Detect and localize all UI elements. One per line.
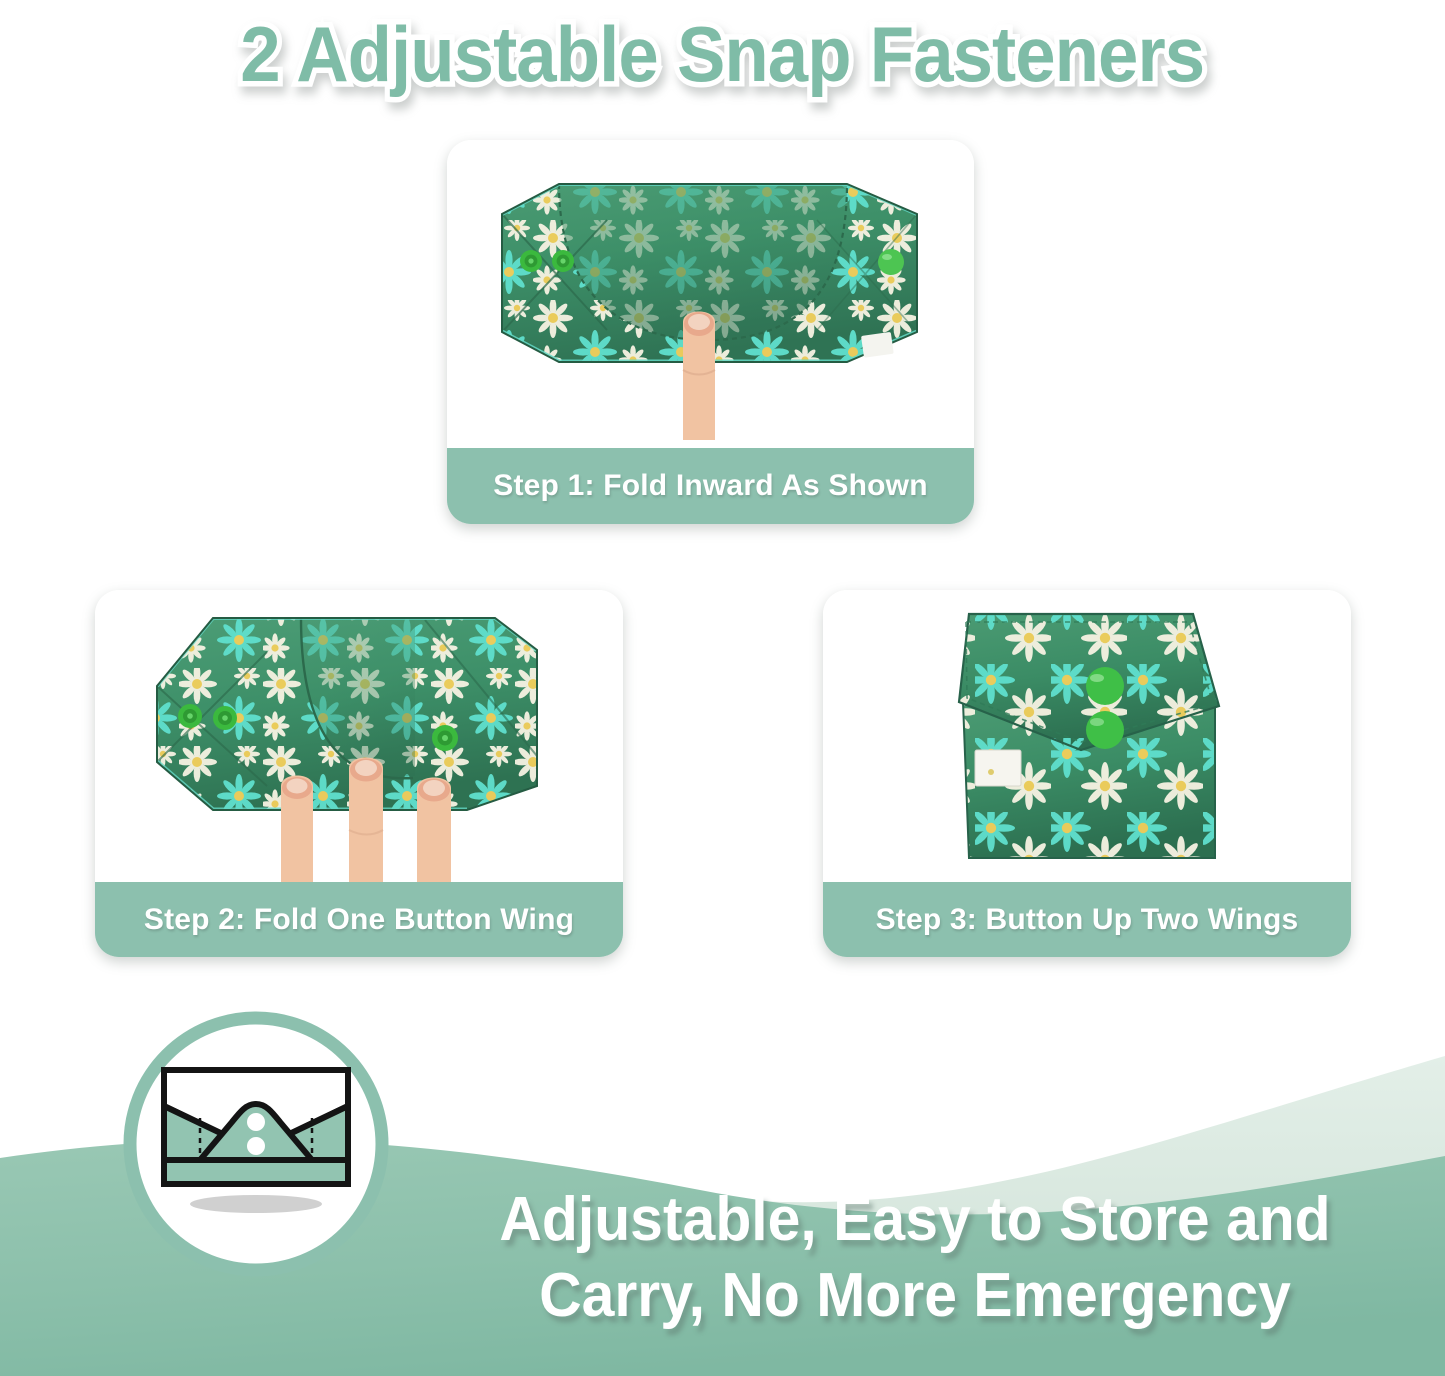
snap-button-right [432, 725, 458, 751]
folded-pouch-icon [120, 1008, 392, 1280]
footer-line-1: Adjustable, Easy to Store and [478, 1182, 1352, 1258]
page-title: 2 Adjustable Snap Fasteners [241, 9, 1205, 100]
pad-fold-illustration-1 [447, 140, 974, 448]
header-title-area: 2 Adjustable Snap Fasteners [0, 0, 1445, 108]
care-tag [861, 332, 894, 358]
step-card-2[interactable]: Step 2: Fold One Button Wing [95, 590, 623, 957]
footer-tagline: Adjustable, Easy to Store and Carry, No … [478, 1182, 1352, 1334]
pouch-closed-illustration [823, 590, 1351, 882]
care-tag [975, 750, 1021, 786]
step-1-photo [447, 140, 974, 448]
footer-line-2: Carry, No More Emergency [478, 1258, 1352, 1334]
step-card-3[interactable]: Step 3: Button Up Two Wings [823, 590, 1351, 957]
step-1-caption: Step 1: Fold Inward As Shown [447, 448, 974, 524]
step-2-photo [95, 590, 623, 882]
step-3-photo [823, 590, 1351, 882]
infographic-page: 2 Adjustable Snap Fasteners [0, 0, 1445, 1376]
envelope-glyph [164, 1070, 348, 1184]
step-3-caption: Step 3: Button Up Two Wings [823, 882, 1351, 957]
finger-pointer [683, 312, 715, 441]
pad-fold-illustration-2 [95, 590, 623, 882]
step-card-1[interactable]: Step 1: Fold Inward As Shown [447, 140, 974, 524]
snap-button-right [878, 249, 904, 275]
step-2-caption: Step 2: Fold One Button Wing [95, 882, 623, 957]
